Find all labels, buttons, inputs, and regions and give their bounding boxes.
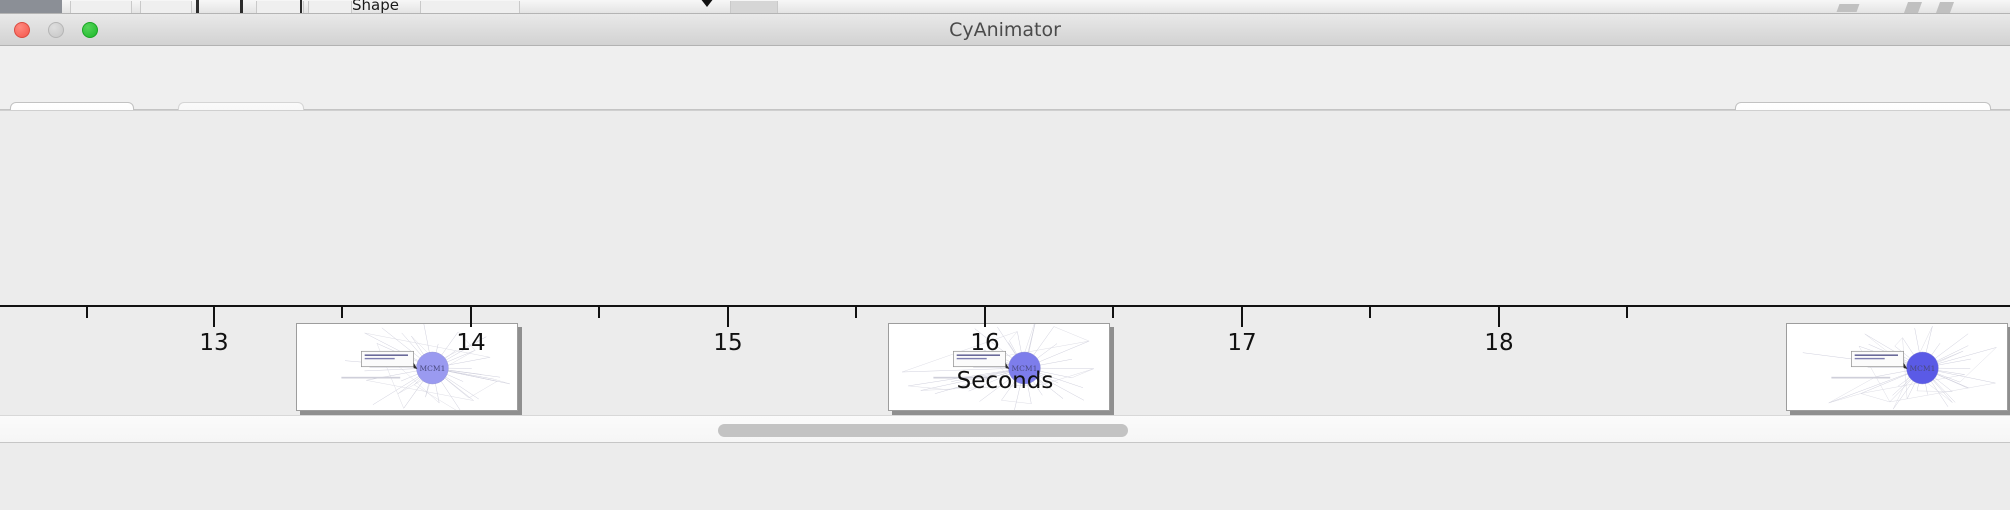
- background-glyph: [1936, 2, 1954, 13]
- axis-tick-major: [1498, 307, 1500, 327]
- timeline-scrollbar[interactable]: [0, 415, 2010, 443]
- title-bar[interactable]: CyAnimator: [0, 14, 2010, 46]
- background-toolbar-chip: [308, 1, 352, 14]
- axis-tick-label: 18: [1484, 330, 1513, 356]
- cyanimator-window: Shape CyAnimator Clear All Frames: [0, 0, 2010, 510]
- background-toolbar-chip: [420, 1, 520, 14]
- background-tick-mark: [240, 0, 243, 13]
- axis-tick-major: [213, 307, 215, 327]
- axis-tick-minor: [86, 307, 88, 318]
- timeline-panel[interactable]: MCM1MCM1MCM1 2131415161718 Seconds: [0, 110, 2010, 415]
- axis-tick-label: 17: [1227, 330, 1256, 356]
- axis-tick-minor: [1112, 307, 1114, 318]
- background-shape-label: Shape: [352, 0, 399, 14]
- axis-tick-label: 14: [456, 330, 485, 356]
- axis-caption: Seconds: [0, 368, 2010, 394]
- axis-tick-minor: [341, 307, 343, 318]
- axis-tick-minor: [855, 307, 857, 318]
- axis-tick-major: [1241, 307, 1243, 327]
- axis-tick-major: [470, 307, 472, 327]
- axis-tick-label: 13: [199, 330, 228, 356]
- background-glyph: [1904, 2, 1922, 13]
- background-window-strip: Shape: [0, 0, 2010, 14]
- axis-tick-major: [727, 307, 729, 327]
- keyframe-thumbnail-3[interactable]: MCM1: [1786, 323, 2008, 411]
- axis-tick-label: 16: [970, 330, 999, 356]
- background-dark-chip: [0, 0, 62, 14]
- frames-toolbar: Clear All Frames: [0, 46, 2010, 110]
- axis-tick-major: [984, 307, 986, 327]
- axis-tick-minor: [1626, 307, 1628, 318]
- axis-tick-label: 15: [713, 330, 742, 356]
- axis-tick-minor: [598, 307, 600, 318]
- timeline-top-divider: [0, 110, 2010, 111]
- background-tick-mark: [196, 0, 199, 13]
- background-toolbar-chip: [140, 1, 192, 14]
- background-glyph: [1837, 4, 1860, 12]
- background-toolbar-chip: [70, 1, 132, 14]
- background-caret-icon: [700, 0, 714, 7]
- timeline-axis: [0, 305, 2010, 307]
- background-selected-chip: [730, 1, 778, 14]
- scrollbar-thumb[interactable]: [718, 424, 1128, 437]
- background-tick-mark: [300, 0, 302, 13]
- playback-controls: Animation Speed:: [0, 443, 2010, 510]
- axis-tick-minor: [1369, 307, 1371, 318]
- window-title: CyAnimator: [0, 14, 2010, 46]
- background-toolbar-chip: [256, 1, 304, 14]
